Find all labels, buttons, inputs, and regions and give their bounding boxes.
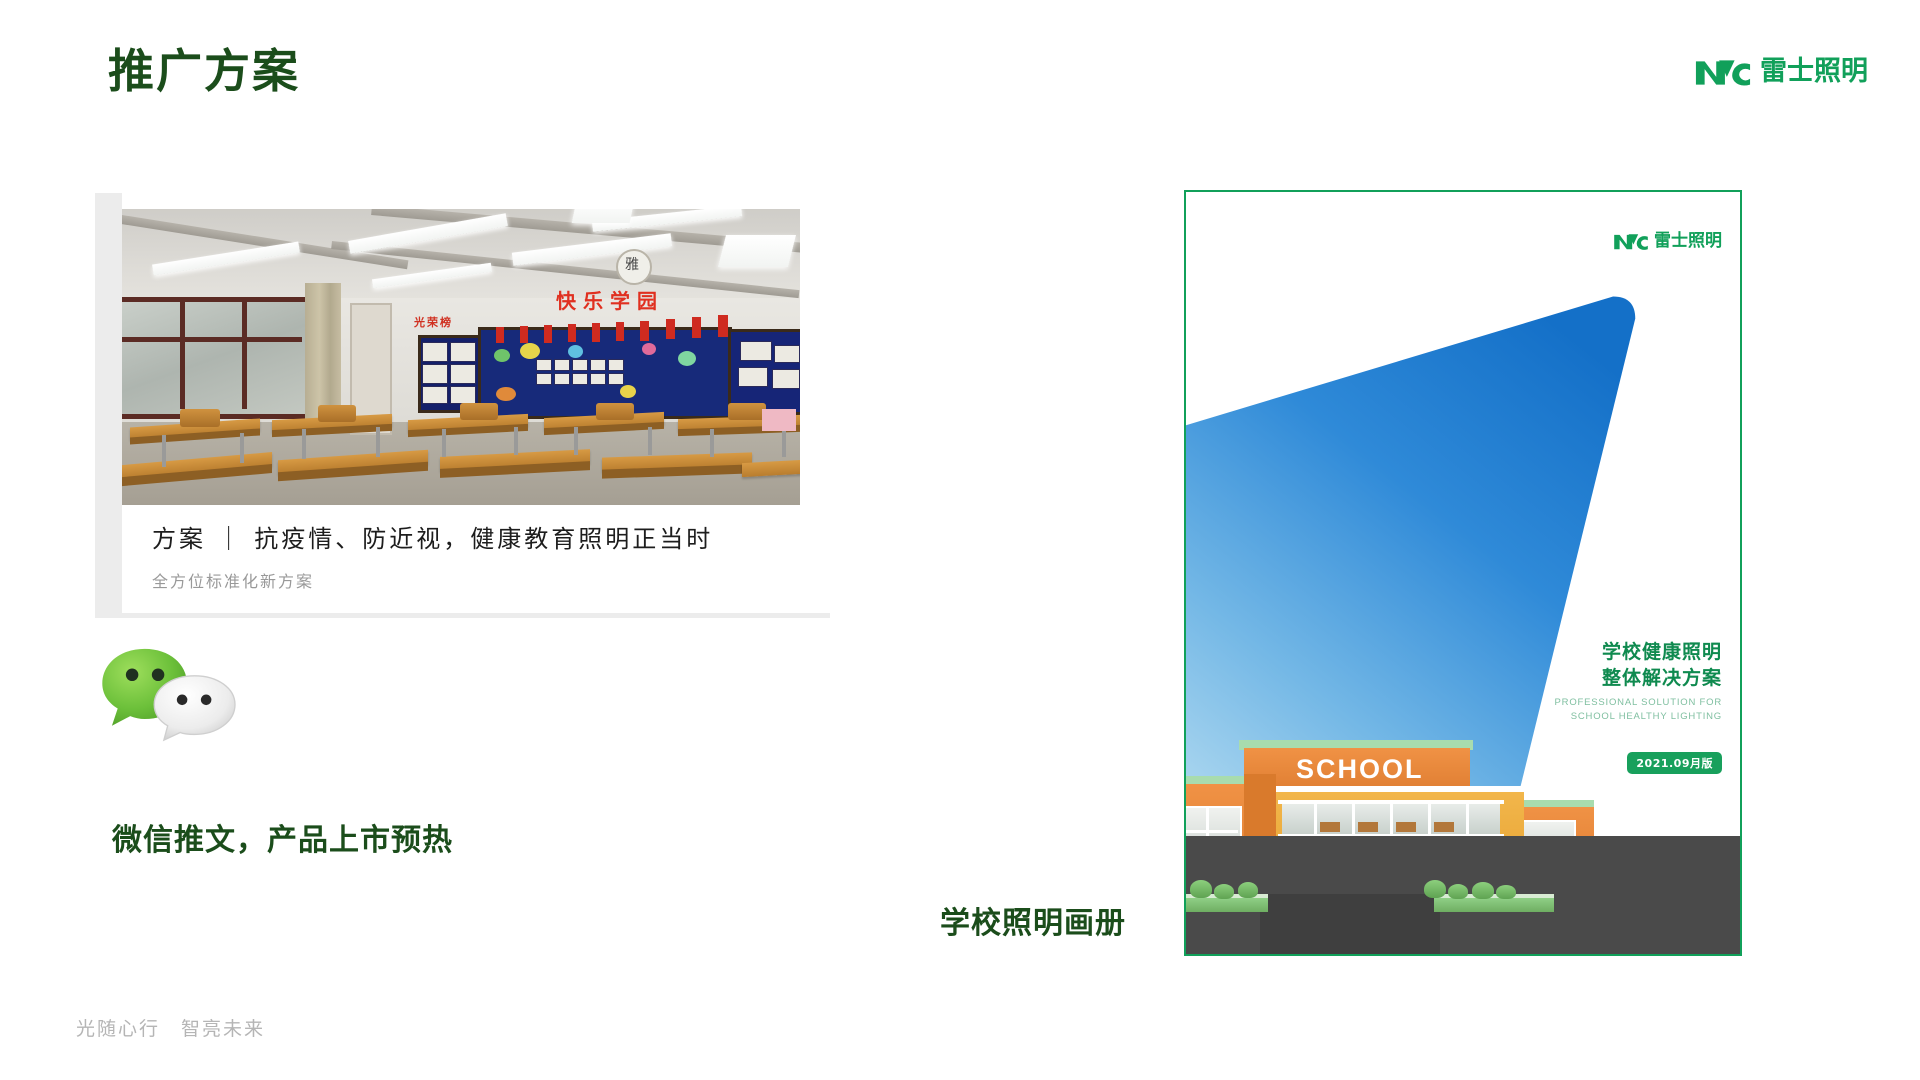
classroom-desk <box>1358 822 1378 832</box>
window-mullion <box>1314 804 1317 836</box>
desk-leg <box>710 429 714 457</box>
window-mullion <box>1466 804 1469 836</box>
balcony-rail <box>1278 800 1504 804</box>
brochure-title: 学校健康照明 整体解决方案 <box>1602 640 1722 691</box>
bush <box>1238 882 1258 898</box>
bush <box>1448 884 1468 899</box>
wechat-article-text: 方案 ｜ 抗疫情、防近视，健康教育照明正当时 全方位标准化新方案 <box>152 519 792 592</box>
board-note <box>554 373 570 385</box>
desk-leg <box>442 429 446 457</box>
desk-leg <box>162 435 166 467</box>
desk-leg <box>376 427 380 457</box>
board-note <box>536 373 552 385</box>
window-mullion <box>122 337 302 342</box>
article-subtitle: 全方位标准化新方案 <box>152 568 792 592</box>
window-mullion <box>242 297 247 409</box>
brochure-title-line2: 整体解决方案 <box>1602 666 1722 692</box>
desk-leg <box>782 429 786 457</box>
classroom-illustration: 快乐学园 光荣榜 雅 <box>122 209 800 505</box>
desk-leg <box>648 427 652 455</box>
desk <box>742 459 800 477</box>
window-mullion <box>1390 804 1393 836</box>
board-cell <box>422 364 448 384</box>
window-mullion <box>1186 830 1238 833</box>
board-note <box>608 373 624 385</box>
brand-logo: 雷士照明 <box>1694 54 1868 90</box>
desk-leg <box>302 429 306 459</box>
board-decor <box>642 343 656 355</box>
brochure-cover[interactable]: SCHOOL <box>1184 190 1742 956</box>
wechat-caption: 微信推文，产品上市预热 <box>112 815 453 859</box>
flag <box>718 315 728 337</box>
board-decor <box>496 387 516 401</box>
chair <box>728 403 766 420</box>
classroom-desk <box>1320 822 1340 832</box>
honor-roll-text: 光荣榜 <box>414 314 453 330</box>
wechat-logo-icon <box>100 645 245 745</box>
flag <box>544 325 552 343</box>
desk-leg <box>574 427 578 455</box>
board-note <box>590 373 606 385</box>
board-cell <box>422 386 448 404</box>
pink-item <box>762 409 796 431</box>
wall-emblem-char: 雅 <box>616 254 648 274</box>
page-title: 推广方案 <box>108 46 300 97</box>
bush <box>1472 882 1494 899</box>
board-note <box>590 359 606 371</box>
board-decor <box>620 385 636 398</box>
flag <box>666 319 675 339</box>
chair <box>180 409 220 427</box>
window-mullion <box>1352 804 1355 836</box>
window-mullion <box>1428 804 1431 836</box>
board-note <box>536 359 552 371</box>
slide-root: 推广方案 雷士照明 <box>0 0 1920 1080</box>
board-note <box>608 359 624 371</box>
banner-text: 快乐学园 <box>556 285 664 314</box>
board-decor <box>520 343 540 359</box>
bush <box>1424 880 1446 898</box>
window <box>122 297 312 419</box>
board-decor <box>678 351 696 366</box>
brand-name: 雷士照明 <box>1760 57 1868 87</box>
wechat-article-card[interactable]: 快乐学园 光荣榜 雅 <box>95 193 830 618</box>
classroom-desk <box>1396 822 1416 832</box>
board-cell <box>772 369 800 389</box>
nvc-logo-icon <box>1613 232 1649 251</box>
board-cell <box>738 367 768 387</box>
desk-leg <box>514 427 518 455</box>
bush <box>1496 885 1516 899</box>
desk-leg <box>240 433 244 463</box>
brochure-caption: 学校照明画册 <box>940 898 1126 942</box>
board-decor <box>568 345 583 358</box>
brochure-title-line1: 学校健康照明 <box>1602 640 1722 666</box>
brochure-subtitle-line1: PROFESSIONAL SOLUTION FOR <box>1555 696 1722 710</box>
bush <box>1190 880 1212 898</box>
board-cell <box>774 345 800 363</box>
bush <box>1214 884 1234 899</box>
article-title: 方案 ｜ 抗疫情、防近视，健康教育照明正当时 <box>152 519 792 554</box>
ceiling-lamp <box>718 235 796 267</box>
board-decor <box>494 349 510 362</box>
board-note <box>572 373 588 385</box>
brochure-brand-name: 雷士照明 <box>1654 232 1722 251</box>
board-cell <box>740 341 772 361</box>
school-sign: SCHOOL <box>1296 754 1424 785</box>
board-cell <box>450 386 476 404</box>
brochure-logo: 雷士照明 <box>1613 230 1722 252</box>
flag <box>616 322 624 341</box>
chair <box>318 405 356 422</box>
chair <box>460 403 498 420</box>
flag <box>496 327 504 343</box>
board-note <box>554 359 570 371</box>
planter-left <box>1186 898 1268 912</box>
flag <box>640 321 649 341</box>
wechat-article-card-inner: 快乐学园 光荣榜 雅 <box>122 193 830 613</box>
flag <box>692 317 701 338</box>
board-cell <box>422 342 448 362</box>
board-cell <box>450 364 476 384</box>
ceiling-lamp <box>572 209 635 223</box>
board-cell <box>450 342 476 362</box>
window-mullion <box>180 297 185 409</box>
brochure-subtitle: PROFESSIONAL SOLUTION FOR SCHOOL HEALTHY… <box>1555 696 1722 724</box>
brochure-version-badge: 2021.09月版 <box>1627 752 1722 774</box>
classroom-desk <box>1434 822 1454 832</box>
classroom-photo: 快乐学园 光荣榜 雅 <box>122 209 800 505</box>
chair <box>596 403 634 420</box>
entrance-road <box>1260 894 1440 954</box>
planter-right <box>1434 898 1554 912</box>
brochure-subtitle-line2: SCHOOL HEALTHY LIGHTING <box>1555 710 1722 724</box>
nvc-logo-icon <box>1694 57 1752 87</box>
flag <box>520 326 528 343</box>
flag <box>568 324 576 342</box>
flag <box>592 323 600 342</box>
board-note <box>572 359 588 371</box>
footer-slogan: 光随心行 智亮未来 <box>76 1014 265 1041</box>
